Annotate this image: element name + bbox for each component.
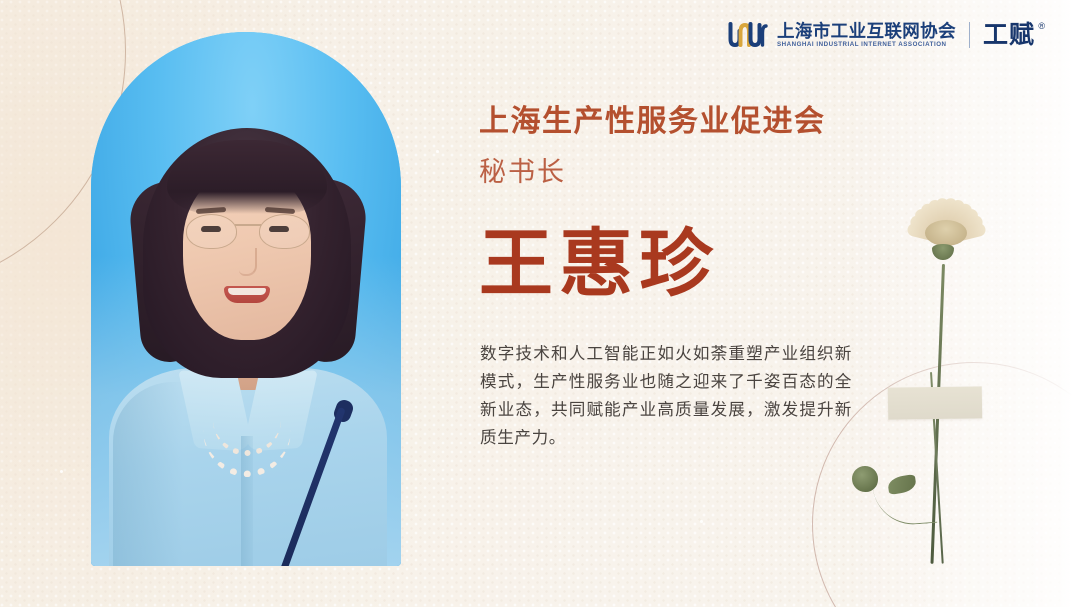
logo-brand-name: 工赋 ® bbox=[983, 23, 1046, 48]
speaker-portrait-photo bbox=[91, 32, 401, 566]
speaker-bio-text: 数字技术和人工智能正如火如荼重塑产业组织新模式，生产性服务业也随之迎来了千姿百态… bbox=[480, 340, 852, 452]
association-logo: 上海市工业互联网协会 SHANGHAI INDUSTRIAL INTERNET … bbox=[728, 14, 1046, 56]
background-white-edge bbox=[1058, 0, 1080, 607]
organization-name: 上海生产性服务业促进会 bbox=[479, 104, 826, 139]
logo-text-block: 上海市工业互联网协会 SHANGHAI INDUSTRIAL INTERNET … bbox=[777, 22, 956, 48]
glasses-lens-left bbox=[186, 214, 237, 249]
shanghai-iia-logo-mark-icon bbox=[728, 20, 768, 50]
logo-brand-text: 工赋 bbox=[983, 21, 1035, 49]
speaker-name: 王惠珍 bbox=[479, 226, 719, 303]
sparkle-dot bbox=[60, 470, 63, 473]
logo-org-name-cn: 上海市工业互联网协会 bbox=[777, 22, 956, 40]
sparkle-dot bbox=[700, 520, 703, 523]
glasses-lens-right bbox=[259, 214, 310, 249]
logo-org-name-en: SHANGHAI INDUSTRIAL INTERNET ASSOCIATION bbox=[777, 42, 956, 48]
sparkle-dot bbox=[436, 150, 439, 153]
flower-head bbox=[898, 174, 994, 252]
portrait-teeth bbox=[228, 288, 266, 295]
glasses-bridge bbox=[235, 224, 261, 226]
portrait-pearl-necklace-inner bbox=[213, 384, 281, 456]
dried-chrysanthemum-icon bbox=[846, 166, 1046, 566]
paper-tape-strip-icon bbox=[888, 386, 982, 419]
portrait-glasses-icon bbox=[186, 214, 310, 248]
speaker-role: 秘书长 bbox=[479, 156, 566, 188]
flower-core bbox=[925, 220, 967, 246]
portrait-shirt-shadow bbox=[113, 382, 183, 566]
logo-divider bbox=[969, 22, 970, 48]
flower-calyx bbox=[932, 244, 954, 260]
portrait-fringe bbox=[167, 140, 327, 214]
registered-trademark-icon: ® bbox=[1038, 22, 1046, 31]
portrait-nose bbox=[239, 248, 257, 276]
speaker-card-poster: 上海市工业互联网协会 SHANGHAI INDUSTRIAL INTERNET … bbox=[0, 0, 1080, 607]
